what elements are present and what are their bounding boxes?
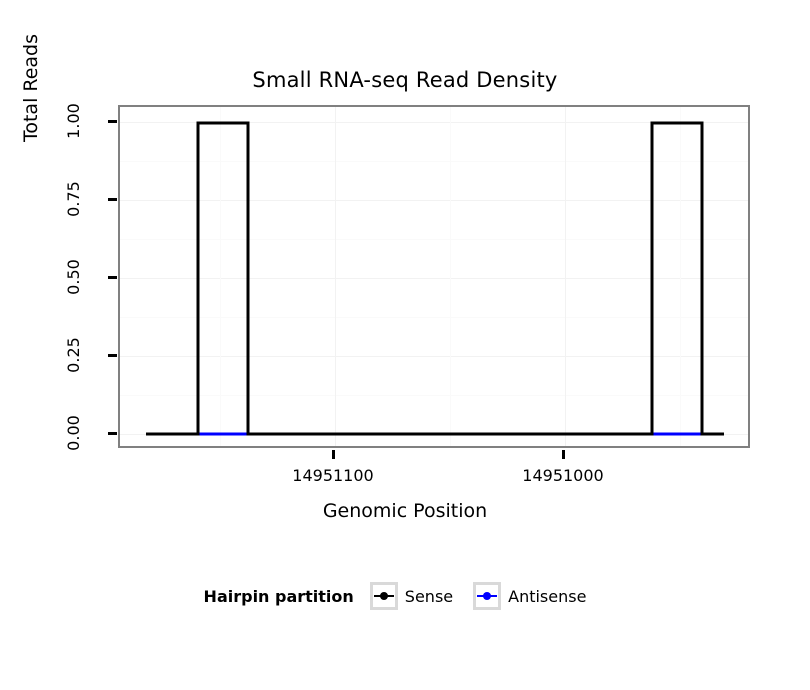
legend-item-sense[interactable]: Sense	[370, 582, 465, 610]
legend-label-antisense: Antisense	[508, 587, 586, 606]
chart-title: Small RNA-seq Read Density	[0, 68, 810, 92]
ytick-mark-0.00	[108, 432, 117, 435]
xtick-label-14951100: 14951100	[263, 466, 403, 485]
ytick-label-1.00: 1.00	[66, 91, 82, 151]
legend-label-sense: Sense	[405, 587, 453, 606]
xtick-label-14951000: 14951000	[493, 466, 633, 485]
xtick-mark-14951000	[562, 450, 565, 459]
ytick-label-0.25-wrap: 0.25	[44, 347, 104, 363]
legend-key-sense-icon	[370, 582, 398, 610]
legend-key-antisense-icon	[473, 582, 501, 610]
xtick-mark-14951100	[332, 450, 335, 459]
ytick-label-0.00: 0.00	[66, 403, 82, 463]
ytick-label-0.50: 0.50	[66, 247, 82, 307]
ytick-label-0.50-wrap: 0.50	[44, 269, 104, 285]
legend-item-antisense[interactable]: Antisense	[473, 582, 598, 610]
ytick-label-1.00-wrap: 1.00	[44, 113, 104, 129]
ytick-label-0.75: 0.75	[66, 169, 82, 229]
plot-panel	[118, 105, 750, 448]
legend: Hairpin partition Sense Antisense	[0, 582, 810, 610]
ytick-label-0.25: 0.25	[66, 325, 82, 385]
ytick-mark-0.75	[108, 198, 117, 201]
ytick-mark-1.00	[108, 120, 117, 123]
series-sense-line	[146, 123, 724, 434]
x-axis-title: Genomic Position	[0, 500, 810, 522]
y-axis-title: Total Reads	[20, 0, 48, 198]
series-layer	[120, 107, 748, 446]
ytick-mark-0.50	[108, 276, 117, 279]
plot-panel-inner	[120, 107, 748, 446]
ytick-label-0.00-wrap: 0.00	[44, 425, 104, 441]
legend-title: Hairpin partition	[204, 587, 354, 606]
ytick-mark-0.25	[108, 354, 117, 357]
chart-container: Small RNA-seq Read Density	[0, 0, 810, 690]
ytick-label-0.75-wrap: 0.75	[44, 191, 104, 207]
